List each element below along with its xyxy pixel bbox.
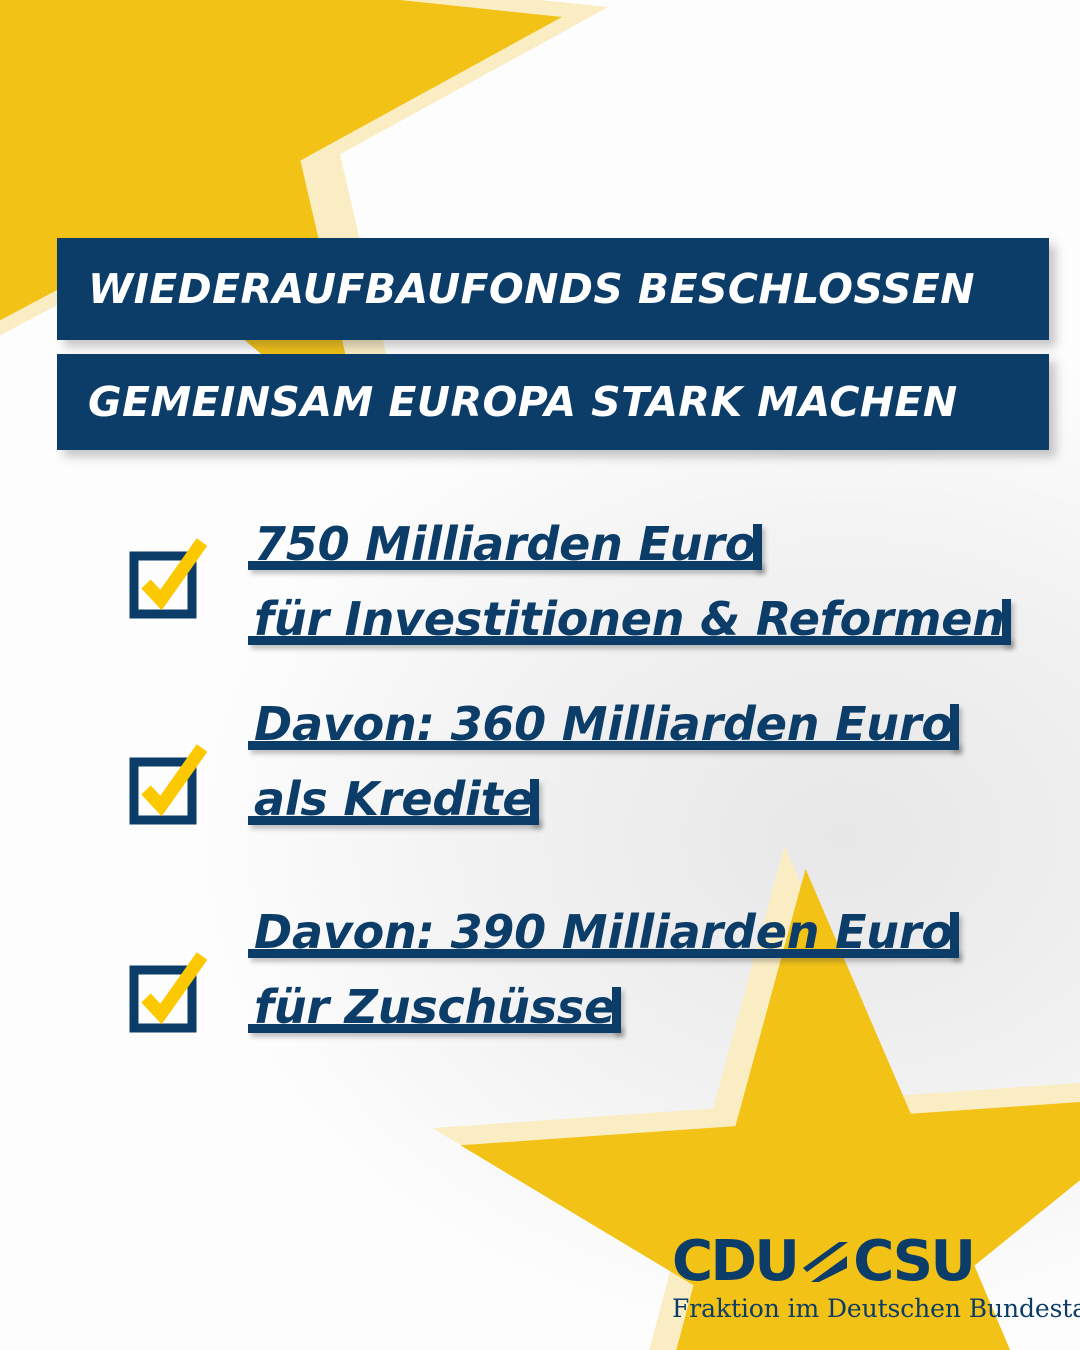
list-item: Davon: 360 Milliarden Euro als Kredite (0, 732, 1080, 932)
headline-block: WIEDERAUFBAUFONDS BESCHLOSSEN GEMEINSAM … (57, 238, 1049, 450)
headline-bar-1: WIEDERAUFBAUFONDS BESCHLOSSEN (57, 238, 1049, 340)
cdu-csu-logo: CDU CSU Fraktion im Deutschen Bundestag (672, 1232, 1024, 1323)
text-line: für Investitionen & Reformen (248, 595, 1025, 644)
checkbox-checked-icon (130, 746, 198, 824)
headline-line-2: GEMEINSAM EUROPA STARK MACHEN (88, 378, 958, 426)
logo-wordmark: CDU CSU (672, 1232, 1024, 1290)
text-line: Davon: 360 Milliarden Euro (248, 700, 973, 749)
poster-canvas: WIEDERAUFBAUFONDS BESCHLOSSEN GEMEINSAM … (0, 0, 1080, 1350)
headline-line-1: WIEDERAUFBAUFONDS BESCHLOSSEN (88, 265, 975, 313)
logo-word-csu: CSU (853, 1234, 973, 1290)
text-line: 750 Milliarden Euro (248, 520, 776, 569)
text-line: für Zuschüsse (248, 983, 635, 1032)
list-item-text: Davon: 360 Milliarden Euro als Kredite (248, 700, 973, 824)
cdu-csu-slash-mark-icon (799, 1238, 851, 1288)
list-item-text: 750 Milliarden Euro für Investitionen & … (248, 520, 1025, 644)
checkbox-checked-icon (130, 954, 198, 1032)
checkbox-checked-icon (130, 540, 198, 618)
headline-bar-2: GEMEINSAM EUROPA STARK MACHEN (57, 354, 1049, 450)
logo-word-cdu: CDU (672, 1234, 797, 1290)
list-item-text: Davon: 390 Milliarden Euro für Zuschüsse (248, 908, 973, 1032)
list-item: Davon: 390 Milliarden Euro für Zuschüsse (0, 932, 1080, 1132)
text-line: Davon: 390 Milliarden Euro (248, 908, 973, 957)
text-line: als Kredite (248, 775, 553, 824)
logo-subtitle: Fraktion im Deutschen Bundestag (672, 1294, 1024, 1323)
bullet-list: 750 Milliarden Euro für Investitionen & … (0, 520, 1080, 1132)
